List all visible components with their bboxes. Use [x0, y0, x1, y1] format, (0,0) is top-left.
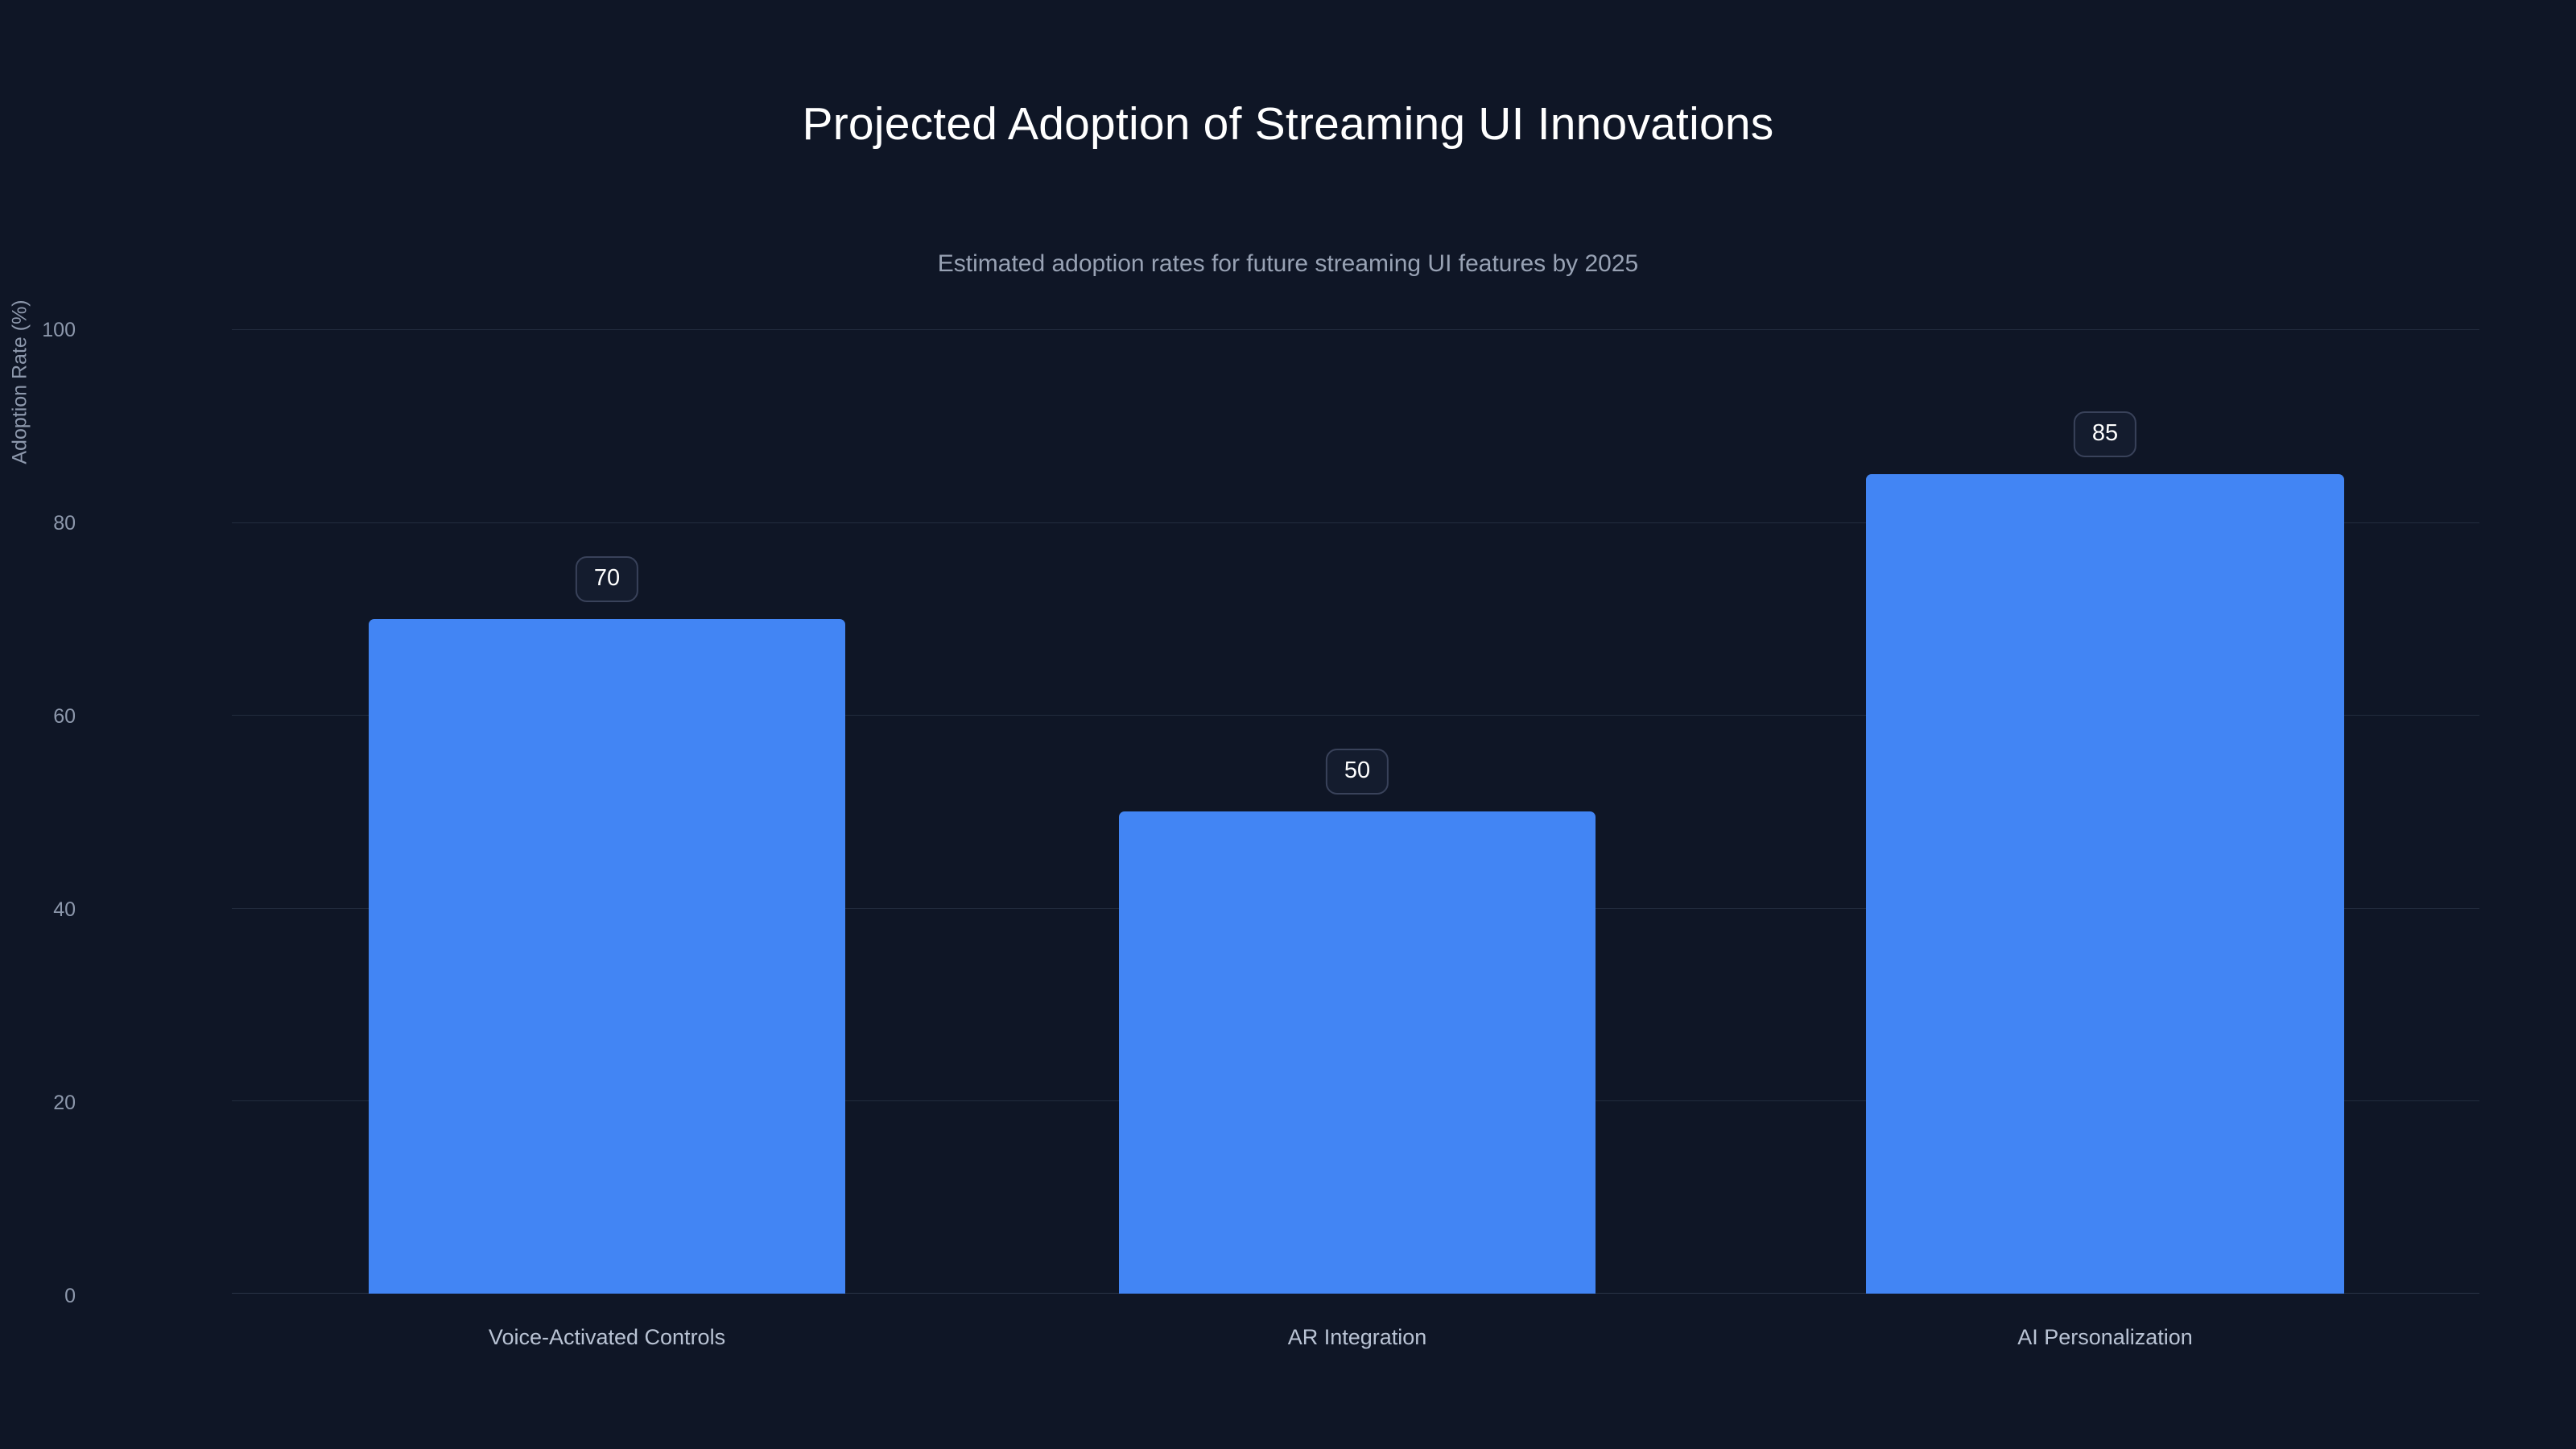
bar-chart-canvas: Projected Adoption of Streaming UI Innov…	[0, 0, 2576, 1449]
chart-subtitle: Estimated adoption rates for future stre…	[0, 250, 2576, 279]
bar-voice-activated-controls[interactable]	[369, 619, 845, 1294]
bar-ai-personalization[interactable]	[1866, 474, 2344, 1294]
value-badge-ar-integration: 50	[1326, 749, 1389, 795]
y-tick-label-20: 20	[0, 1093, 76, 1113]
y-axis-title: Adoption Rate (%)	[9, 262, 32, 503]
bar-ar-integration[interactable]	[1119, 811, 1596, 1294]
y-tick-label-60: 60	[0, 707, 76, 727]
plot-area: 70 50 85 Voice-Activated Controls AR Int…	[232, 329, 2479, 1294]
value-badge-voice-activated-controls: 70	[576, 556, 638, 602]
x-label-voice-activated-controls: Voice-Activated Controls	[489, 1327, 725, 1348]
page-title: Projected Adoption of Streaming UI Innov…	[0, 98, 2576, 151]
gridline-100	[232, 329, 2479, 330]
y-tick-label-80: 80	[0, 514, 76, 534]
x-label-ai-personalization: AI Personalization	[2017, 1327, 2193, 1348]
y-tick-label-0: 0	[0, 1286, 76, 1307]
y-tick-label-40: 40	[0, 900, 76, 920]
x-label-ar-integration: AR Integration	[1288, 1327, 1427, 1348]
value-badge-ai-personalization: 85	[2074, 411, 2136, 457]
y-tick-label-100: 100	[0, 320, 76, 341]
